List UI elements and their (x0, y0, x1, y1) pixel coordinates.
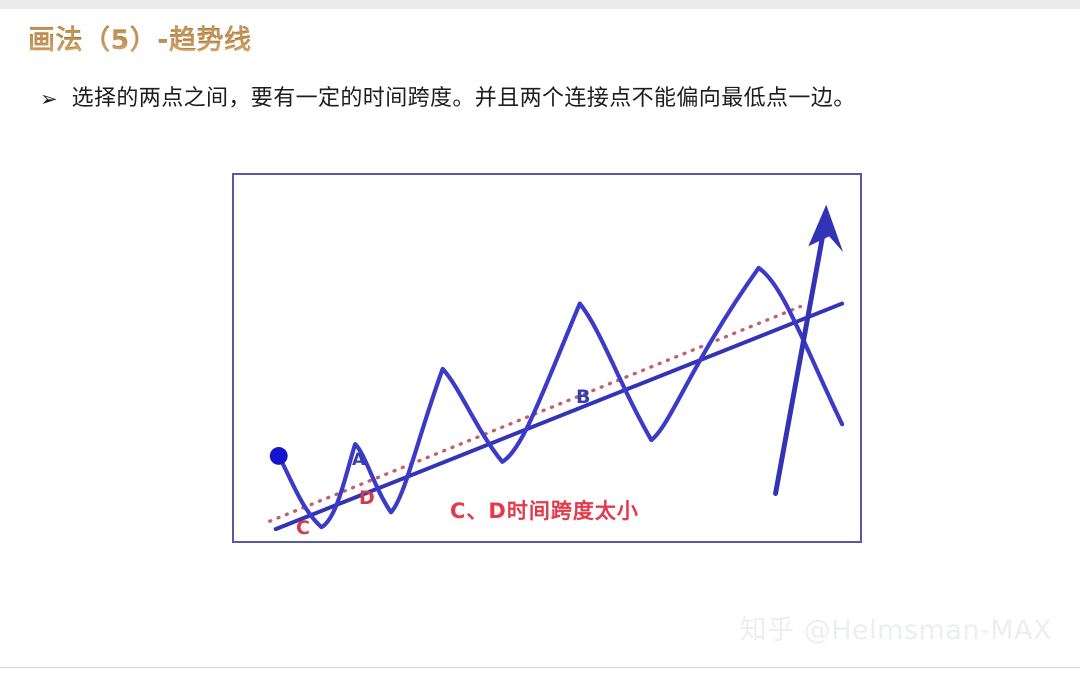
chart-note-annotation: C、D时间跨度太小 (450, 495, 639, 525)
chart-frame (232, 173, 862, 543)
trendline-chart (234, 175, 860, 541)
bullet-row: ➢ 选择的两点之间，要有一定的时间跨度。并且两个连接点不能偏向最低点一边。 (40, 84, 856, 114)
top-gray-band (0, 0, 1080, 9)
uptrend-arrow-shaft (776, 217, 827, 494)
bottom-divider (0, 667, 1080, 668)
slide-root: 画法（5）-趋势线 ➢ 选择的两点之间，要有一定的时间跨度。并且两个连接点不能偏… (0, 0, 1080, 676)
uptrend-arrow-head (808, 205, 843, 252)
bullet-arrow-icon: ➢ (40, 84, 58, 114)
price-wave-curve (279, 268, 842, 527)
start-point-dot (270, 447, 288, 465)
page-title: 画法（5）-趋势线 (28, 18, 252, 57)
bullet-text: 选择的两点之间，要有一定的时间跨度。并且两个连接点不能偏向最低点一边。 (72, 84, 856, 114)
watermark: 知乎 @Helmsman-MAX (740, 608, 1052, 647)
left-margin-strip (0, 9, 30, 667)
